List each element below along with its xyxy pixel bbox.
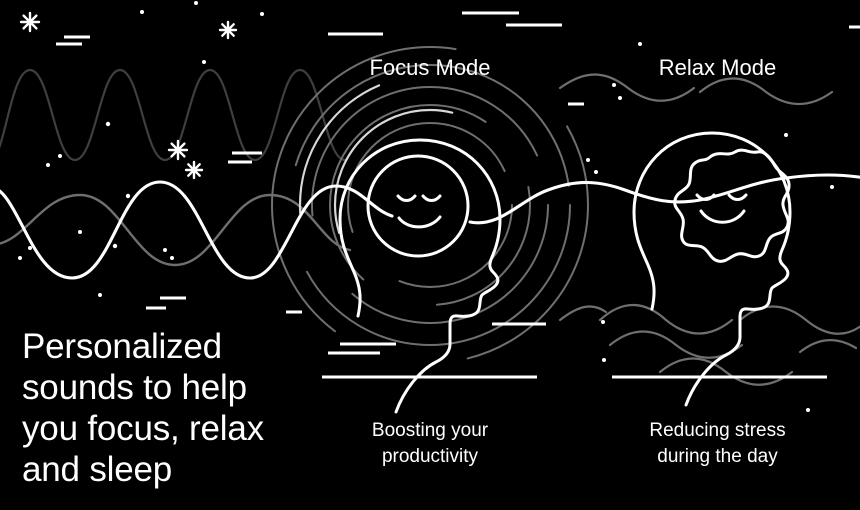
focus-mode-caption: Boosting your productivity bbox=[320, 418, 540, 470]
relax-cloud-blob bbox=[675, 150, 789, 261]
relax-head-outline bbox=[686, 133, 790, 405]
relax-mode-caption: Reducing stress during the day bbox=[605, 418, 830, 470]
page-headline: Personalized sounds to help you focus, r… bbox=[22, 326, 322, 490]
focus-mode-label: Focus Mode bbox=[320, 55, 540, 81]
relax-eye-right bbox=[729, 195, 746, 200]
relax-eye-left bbox=[697, 195, 714, 200]
banner-canvas: Personalized sounds to help you focus, r… bbox=[0, 0, 860, 510]
relax-mouth bbox=[701, 211, 744, 222]
relax-mode-label: Relax Mode bbox=[605, 55, 830, 81]
